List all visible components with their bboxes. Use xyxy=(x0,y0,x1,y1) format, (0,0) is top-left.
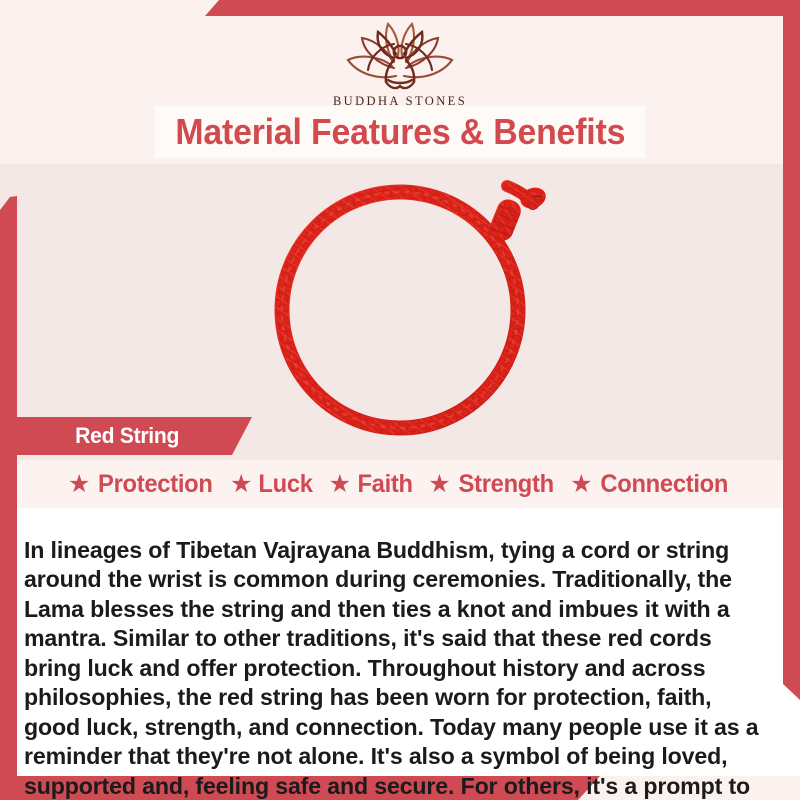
benefit-item-faith: ★ Faith xyxy=(329,470,415,499)
product-name: Red String xyxy=(75,423,179,449)
benefit-item-strength: ★ Strength xyxy=(428,470,556,499)
benefit-item-protection: ★ Protection xyxy=(68,470,216,499)
page-title-plate: Material Features & Benefits xyxy=(155,106,645,158)
benefit-label: Faith xyxy=(358,470,413,499)
star-icon: ★ xyxy=(329,472,351,497)
star-icon: ★ xyxy=(428,472,450,497)
benefit-label: Connection xyxy=(601,470,729,499)
star-icon: ★ xyxy=(570,472,592,497)
star-icon: ★ xyxy=(230,472,252,497)
brand-logo: BUDDHA STONES xyxy=(0,16,800,109)
benefit-item-luck: ★ Luck xyxy=(230,470,315,499)
benefit-item-connection: ★ Connection xyxy=(570,470,732,499)
red-braided-cord-bracelet-image xyxy=(245,170,575,465)
benefit-label: Strength xyxy=(458,470,553,499)
product-name-banner: Red String xyxy=(17,417,252,455)
benefit-label: Protection xyxy=(98,470,213,499)
benefits-list: ★ Protection ★ Luck ★ Faith ★ Strength ★… xyxy=(0,462,800,506)
benefit-label: Luck xyxy=(259,470,313,499)
page-title: Material Features & Benefits xyxy=(175,111,625,153)
lotus-meditation-icon xyxy=(334,20,466,92)
star-icon: ★ xyxy=(68,472,90,497)
material-features-infographic: BUDDHA STONES Material Features & Benefi… xyxy=(0,0,800,800)
product-description: In lineages of Tibetan Vajrayana Buddhis… xyxy=(24,536,765,800)
